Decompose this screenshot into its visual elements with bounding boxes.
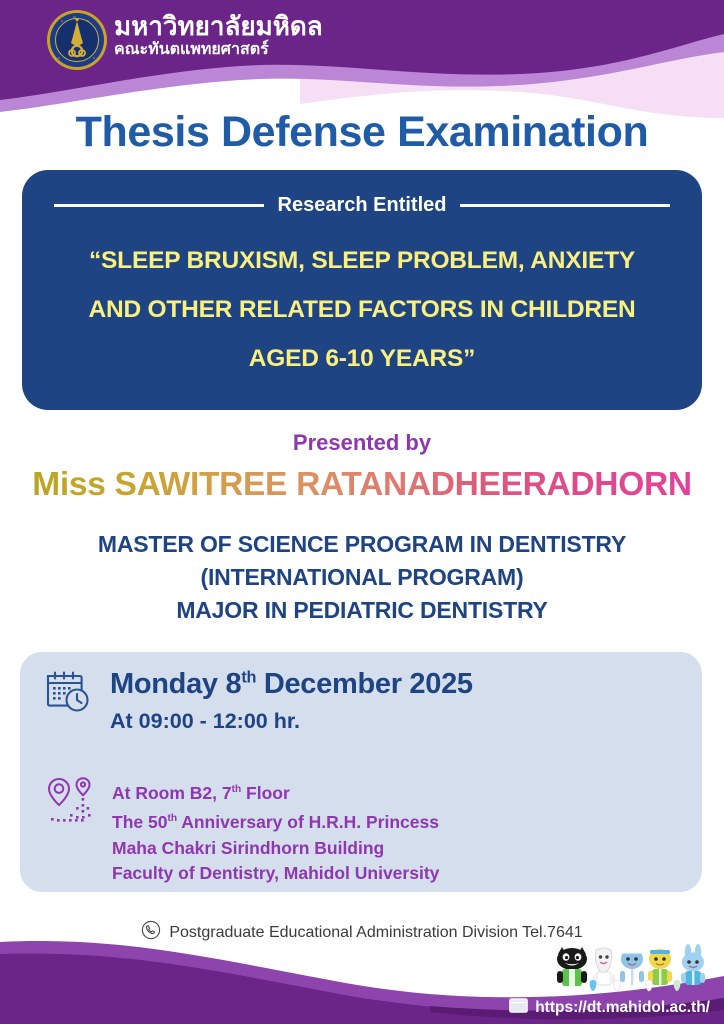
date-time-row: Monday 8th December 2025 At 09:00 - 12:0… [44, 666, 473, 734]
divider-right [460, 204, 670, 207]
mahidol-university-emblem-icon: ปญม มล [46, 9, 108, 71]
location-line-tail: Anniversary of H.R.H. Princess [177, 812, 439, 832]
website-row[interactable]: https://dt.mahidol.ac.th/ [509, 998, 710, 1018]
location-line-text: At Room B2, 7 [112, 783, 232, 803]
map-pin-route-icon [46, 776, 94, 887]
poster-canvas: ปญม มล มหาวิทยาลัยมหิดล คณะทันตแพทยศาสตร… [0, 0, 724, 1024]
presented-by-label: Presented by [0, 430, 724, 456]
program-line: MASTER OF SCIENCE PROGRAM IN DENTISTRY [0, 528, 724, 561]
browser-window-icon [509, 998, 528, 1018]
research-entitled-panel: Research Entitled “SLEEP BRUXISM, SLEEP … [22, 170, 702, 410]
location-line-tail: Floor [241, 783, 290, 803]
program-line: (INTERNATIONAL PROGRAM) [0, 561, 724, 594]
svg-text:ญ: ญ [73, 15, 76, 19]
dental-mascot-characters-icon [552, 944, 712, 992]
calendar-clock-icon [44, 666, 92, 734]
website-url[interactable]: https://dt.mahidol.ac.th/ [535, 999, 710, 1017]
event-details-panel: Monday 8th December 2025 At 09:00 - 12:0… [20, 652, 702, 892]
svg-text:ป: ป [61, 19, 63, 23]
location-line-text: The 50 [112, 812, 167, 832]
presenter-name: Miss SAWITREE RATANADHEERADHORN [0, 466, 724, 504]
location-line: The 50th Anniversary of H.R.H. Princess [112, 806, 439, 835]
research-title-line: AND OTHER RELATED FACTORS IN CHILDREN [48, 285, 676, 334]
event-date: Monday 8th December 2025 [110, 668, 473, 701]
divider-left [54, 204, 264, 207]
event-date-ordinal: th [241, 668, 256, 686]
location-row: At Room B2, 7th Floor The 50th Anniversa… [46, 776, 439, 887]
location-line: Faculty of Dentistry, Mahidol University [112, 861, 439, 887]
university-name-thai: มหาวิทยาลัยมหิดล [114, 12, 323, 40]
program-line: MAJOR IN PEDIATRIC DENTISTRY [0, 594, 724, 627]
event-time: At 09:00 - 12:00 hr. [110, 709, 473, 734]
location-line-sup: th [232, 784, 242, 795]
research-section-label: Research Entitled [278, 194, 447, 217]
svg-text:ล: ล [93, 56, 95, 60]
svg-text:ม: ม [58, 56, 60, 60]
location-line-sup: th [167, 813, 177, 824]
research-section-header: Research Entitled [22, 194, 702, 217]
location-line: At Room B2, 7th Floor [112, 777, 439, 806]
research-title-line: “SLEEP BRUXISM, SLEEP PROBLEM, ANXIETY [48, 236, 676, 285]
program-info: MASTER OF SCIENCE PROGRAM IN DENTISTRY (… [0, 528, 724, 627]
location-line: Maha Chakri Sirindhorn Building [112, 836, 439, 862]
svg-text:ม: ม [87, 19, 89, 23]
research-title: “SLEEP BRUXISM, SLEEP PROBLEM, ANXIETY A… [48, 236, 676, 383]
research-title-line: AGED 6-10 YEARS” [48, 334, 676, 383]
page-title: Thesis Defense Examination [0, 108, 724, 157]
event-date-prefix: Monday 8 [110, 668, 241, 700]
faculty-name-thai: คณะทันตแพทยศาสตร์ [114, 40, 269, 59]
event-date-suffix: December 2025 [256, 668, 473, 700]
